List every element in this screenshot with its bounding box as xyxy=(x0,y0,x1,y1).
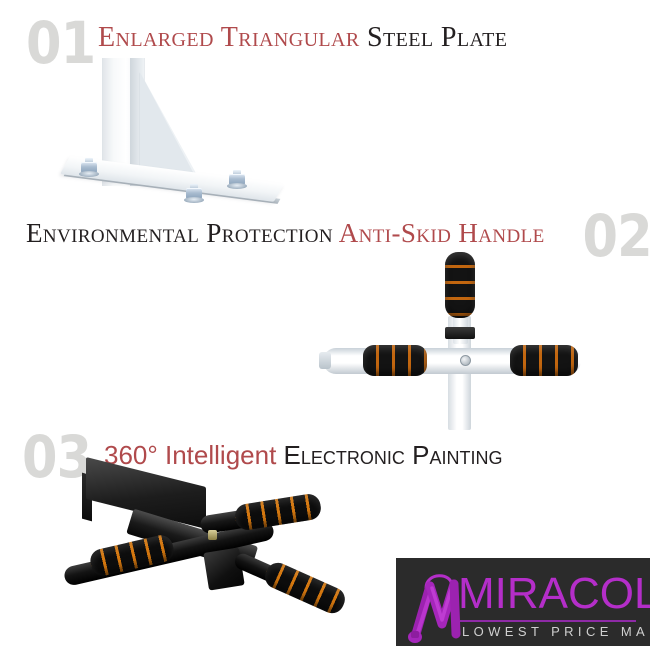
foam-grip-lower xyxy=(261,559,348,617)
section-heading-03: 360° Intelligent Electronic Painting xyxy=(104,440,502,471)
electronic-painting-photo xyxy=(30,472,360,642)
section-heading-02-black: Environmental Protection xyxy=(26,218,333,248)
bolt xyxy=(185,184,203,204)
foam-grip-right xyxy=(233,492,322,531)
anti-skid-handle-photo xyxy=(305,252,595,430)
section-heading-01: Enlarged Triangular Steel Plate xyxy=(98,22,507,54)
miracolo-logo[interactable]: MIRACOLO LOWEST PRICE MALL xyxy=(396,558,650,646)
logo-tagline: LOWEST PRICE MALL xyxy=(462,624,650,639)
product-infographic: 01 Enlarged Triangular Steel Plate Envir… xyxy=(0,0,650,650)
gold-screw xyxy=(208,530,217,540)
section-heading-02-red: Anti-Skid Handle xyxy=(339,218,545,248)
section-heading-01-red: Enlarged Triangular xyxy=(98,22,360,53)
foam-grip-left xyxy=(363,345,427,376)
steel-plate-photo xyxy=(40,58,330,218)
logo-brand-text: MIRACOLO xyxy=(458,572,650,616)
section-heading-03-red: 360° Intelligent xyxy=(104,440,276,470)
triangular-gusset-shade xyxy=(140,72,195,176)
bar-end-cap xyxy=(319,352,331,369)
logo-divider xyxy=(460,620,636,622)
bolt xyxy=(228,170,246,190)
screw xyxy=(460,355,471,366)
section-heading-03-black: Electronic Painting xyxy=(284,440,503,470)
foam-grip-top xyxy=(445,252,475,318)
foam-grip-right xyxy=(510,345,578,376)
bolt xyxy=(80,158,98,178)
black-clamp xyxy=(445,327,475,339)
section-heading-01-black: Steel Plate xyxy=(367,22,507,53)
section-heading-02: Environmental Protection Anti-Skid Handl… xyxy=(26,218,545,249)
